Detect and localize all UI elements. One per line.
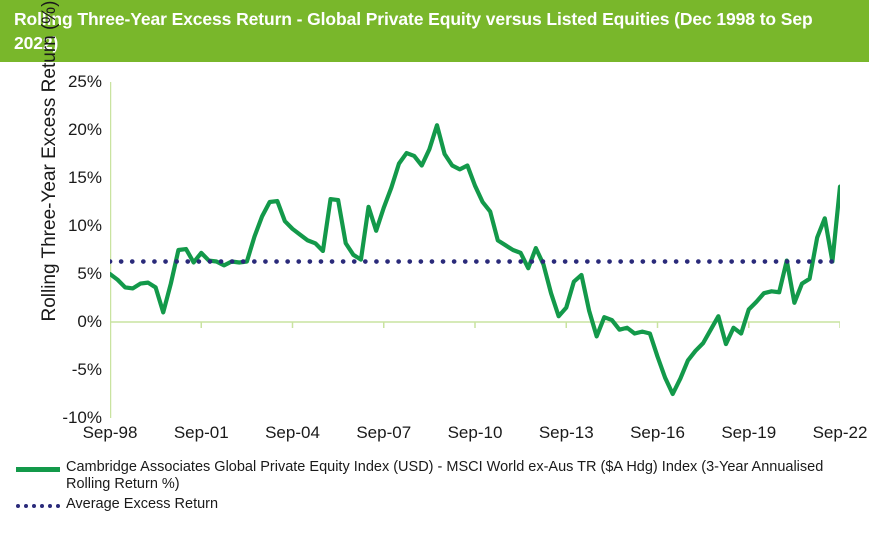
legend-label-average: Average Excess Return xyxy=(66,496,218,513)
plot-area xyxy=(110,82,840,418)
chart-container: Rolling Three-Year Excess Return - Globa… xyxy=(0,0,869,542)
y-axis-tick-label: -5% xyxy=(44,361,102,378)
x-axis-tick-label: Sep-01 xyxy=(151,423,251,443)
legend-label-series: Cambridge Associates Global Private Equi… xyxy=(66,459,864,493)
x-axis-tick-label: Sep-98 xyxy=(60,423,160,443)
x-axis-tick-label: Sep-10 xyxy=(425,423,525,443)
chart-legend: Cambridge Associates Global Private Equi… xyxy=(14,459,864,518)
y-axis-tick-label: 5% xyxy=(44,265,102,282)
x-axis-tick-label: Sep-04 xyxy=(243,423,343,443)
legend-item-series: Cambridge Associates Global Private Equi… xyxy=(14,459,864,493)
y-axis-tick-label: 10% xyxy=(44,217,102,234)
y-axis-tick-label: 20% xyxy=(44,121,102,138)
x-axis-tick-label: Sep-07 xyxy=(334,423,434,443)
x-axis-tick-label: Sep-19 xyxy=(699,423,799,443)
page-title: Rolling Three-Year Excess Return - Globa… xyxy=(14,7,855,55)
y-axis-tick-label: 15% xyxy=(44,169,102,186)
y-axis-tick-label: 0% xyxy=(44,313,102,330)
x-axis-tick-labels: Sep-98Sep-01Sep-04Sep-07Sep-10Sep-13Sep-… xyxy=(110,423,840,449)
x-axis-tick-label: Sep-22 xyxy=(790,423,869,443)
chart-svg xyxy=(110,82,840,418)
legend-key-solid-line-icon xyxy=(14,461,62,478)
legend-item-average: Average Excess Return xyxy=(14,496,864,515)
y-axis-tick-labels: 25%20%15%10%5%0%-5%-10% xyxy=(40,82,102,418)
x-axis-tick-label: Sep-13 xyxy=(516,423,616,443)
axis-ticks xyxy=(110,82,840,418)
chart-title-banner: Rolling Three-Year Excess Return - Globa… xyxy=(0,0,869,62)
legend-key-dotted-line-icon xyxy=(14,498,62,515)
x-axis-tick-label: Sep-16 xyxy=(608,423,708,443)
y-axis-tick-label: 25% xyxy=(44,73,102,90)
